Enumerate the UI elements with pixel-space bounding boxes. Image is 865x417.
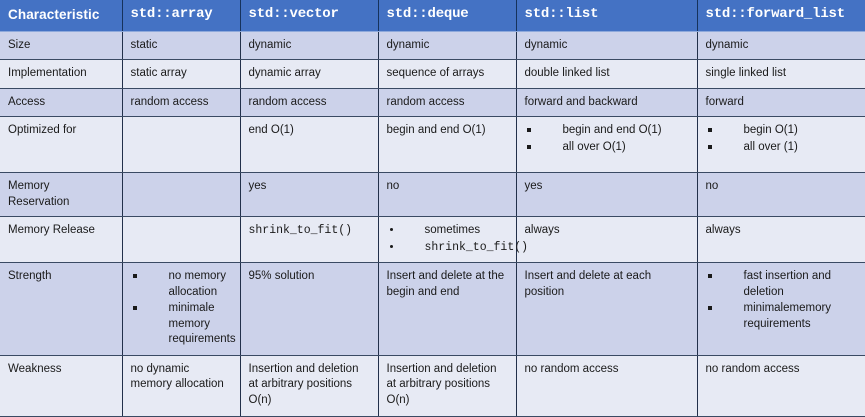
table-cell: single linked list (697, 60, 865, 89)
row-label-cell: Memory Reservation (0, 173, 122, 217)
cell-text: Insert and delete at each position (525, 269, 689, 300)
table-header: Characteristic std::array std::vector st… (0, 0, 865, 31)
cell-text: begin and end O(1) (387, 123, 508, 139)
table-cell: static array (122, 60, 240, 89)
table-row: Accessrandom accessrandom accessrandom a… (0, 88, 865, 117)
cell-text: no random access (525, 362, 689, 378)
bullet-item: sometimes (387, 223, 508, 239)
cell-text: random access (249, 95, 370, 111)
table-cell: random access (240, 88, 378, 117)
table-row: Sizestaticdynamicdynamicdynamicdynamic (0, 31, 865, 60)
cell-text: no random access (706, 362, 858, 378)
cell-text: no (387, 179, 508, 195)
column-header-characteristic: Characteristic (0, 0, 122, 31)
cell-text: shrink_to_fit() (249, 223, 370, 239)
table-row: Optimized forend O(1)begin and end O(1)b… (0, 117, 865, 173)
row-label-cell: Size (0, 31, 122, 60)
cell-text: dynamic (387, 38, 508, 54)
bullet-item: shrink_to_fit() (387, 240, 508, 256)
row-label-cell: Weakness (0, 355, 122, 416)
table-cell: begin O(1)all over (1) (697, 117, 865, 173)
table-cell: forward (697, 88, 865, 117)
cell-text: yes (525, 179, 689, 195)
table-cell: dynamic array (240, 60, 378, 89)
table-cell: sequence of arrays (378, 60, 516, 89)
table-cell: begin and end O(1) (378, 117, 516, 173)
cell-text: 95% solution (249, 269, 370, 285)
row-label-cell: Strength (0, 263, 122, 356)
table-cell: dynamic (697, 31, 865, 60)
row-label-cell: Access (0, 88, 122, 117)
cell-text: forward (706, 95, 858, 111)
table-cell: no (378, 173, 516, 217)
table-cell: dynamic (516, 31, 697, 60)
table-cell: dynamic (240, 31, 378, 60)
column-header-std-list: std::list (516, 0, 697, 31)
bullet-list: sometimesshrink_to_fit() (387, 223, 508, 255)
cell-text: dynamic array (249, 66, 370, 82)
table-cell (122, 117, 240, 173)
bullet-list: fast insertion and deletionminimalememor… (706, 269, 858, 332)
column-header-std-deque: std::deque (378, 0, 516, 31)
cell-text: random access (387, 95, 508, 111)
stl-container-comparison-table: Characteristic std::array std::vector st… (0, 0, 865, 417)
table-cell: Insert and delete at each position (516, 263, 697, 356)
bullet-item: minimalememory requirements (706, 301, 858, 332)
table-cell: fast insertion and deletionminimalememor… (697, 263, 865, 356)
row-label-cell: Optimized for (0, 117, 122, 173)
table-cell: Insertion and deletion at arbitrary posi… (378, 355, 516, 416)
table-row: Memory Reservationyesnoyesno (0, 173, 865, 217)
cell-text: dynamic (706, 38, 858, 54)
table-cell: no random access (697, 355, 865, 416)
table-row: Implementationstatic arraydynamic arrays… (0, 60, 865, 89)
table-cell: end O(1) (240, 117, 378, 173)
cell-text: forward and backward (525, 95, 689, 111)
cell-text: Insertion and deletion at arbitrary posi… (387, 362, 508, 409)
bullet-list: begin and end O(1)all over O(1) (525, 123, 689, 155)
table-cell: no random access (516, 355, 697, 416)
table-cell: always (516, 217, 697, 263)
table-cell: Insert and delete at the begin and end (378, 263, 516, 356)
cell-text: always (525, 223, 689, 239)
cell-text: static (131, 38, 232, 54)
table-cell: no dynamic memory allocation (122, 355, 240, 416)
bullet-item: all over (1) (706, 140, 858, 156)
cell-text: double linked list (525, 66, 689, 82)
table-cell: 95% solution (240, 263, 378, 356)
cell-text: dynamic (525, 38, 689, 54)
cell-text: Insert and delete at the begin and end (387, 269, 508, 300)
table-cell: shrink_to_fit() (240, 217, 378, 263)
cell-text: yes (249, 179, 370, 195)
table-cell: dynamic (378, 31, 516, 60)
table-cell: always (697, 217, 865, 263)
table-cell: no memory allocationminimale memory requ… (122, 263, 240, 356)
bullet-item: begin and end O(1) (525, 123, 689, 139)
table-cell: yes (240, 173, 378, 217)
cell-text: single linked list (706, 66, 858, 82)
cell-text: sequence of arrays (387, 66, 508, 82)
bullet-item: all over O(1) (525, 140, 689, 156)
table-cell: forward and backward (516, 88, 697, 117)
bullet-item: no memory allocation (131, 269, 232, 300)
cell-text: random access (131, 95, 232, 111)
column-header-std-vector: std::vector (240, 0, 378, 31)
table-cell: static (122, 31, 240, 60)
cell-text: Insertion and deletion at arbitrary posi… (249, 362, 370, 409)
table-row: Memory Releaseshrink_to_fit()sometimessh… (0, 217, 865, 263)
table-cell (122, 217, 240, 263)
table-body: SizestaticdynamicdynamicdynamicdynamicIm… (0, 31, 865, 416)
table-cell: no (697, 173, 865, 217)
row-label-cell: Implementation (0, 60, 122, 89)
bullet-item: minimale memory requirements (131, 301, 232, 348)
table-row: Strengthno memory allocationminimale mem… (0, 263, 865, 356)
table-cell: sometimesshrink_to_fit() (378, 217, 516, 263)
column-header-std-forward-list: std::forward_list (697, 0, 865, 31)
table-cell (122, 173, 240, 217)
cell-text: no (706, 179, 858, 195)
table-row: Weaknessno dynamic memory allocationInse… (0, 355, 865, 416)
cell-text: no dynamic memory allocation (131, 362, 232, 393)
table-cell: begin and end O(1)all over O(1) (516, 117, 697, 173)
table-cell: random access (122, 88, 240, 117)
cell-text: dynamic (249, 38, 370, 54)
table-cell: random access (378, 88, 516, 117)
column-header-std-array: std::array (122, 0, 240, 31)
cell-text: static array (131, 66, 232, 82)
bullet-item: fast insertion and deletion (706, 269, 858, 300)
table-cell: Insertion and deletion at arbitrary posi… (240, 355, 378, 416)
bullet-item: begin O(1) (706, 123, 858, 139)
table-cell: double linked list (516, 60, 697, 89)
bullet-list: begin O(1)all over (1) (706, 123, 858, 155)
row-label-cell: Memory Release (0, 217, 122, 263)
cell-text: always (706, 223, 858, 239)
cell-text: end O(1) (249, 123, 370, 139)
header-row: Characteristic std::array std::vector st… (0, 0, 865, 31)
table-cell: yes (516, 173, 697, 217)
stl-container-comparison-table-page: Characteristic std::array std::vector st… (0, 0, 865, 400)
bullet-list: no memory allocationminimale memory requ… (131, 269, 232, 348)
